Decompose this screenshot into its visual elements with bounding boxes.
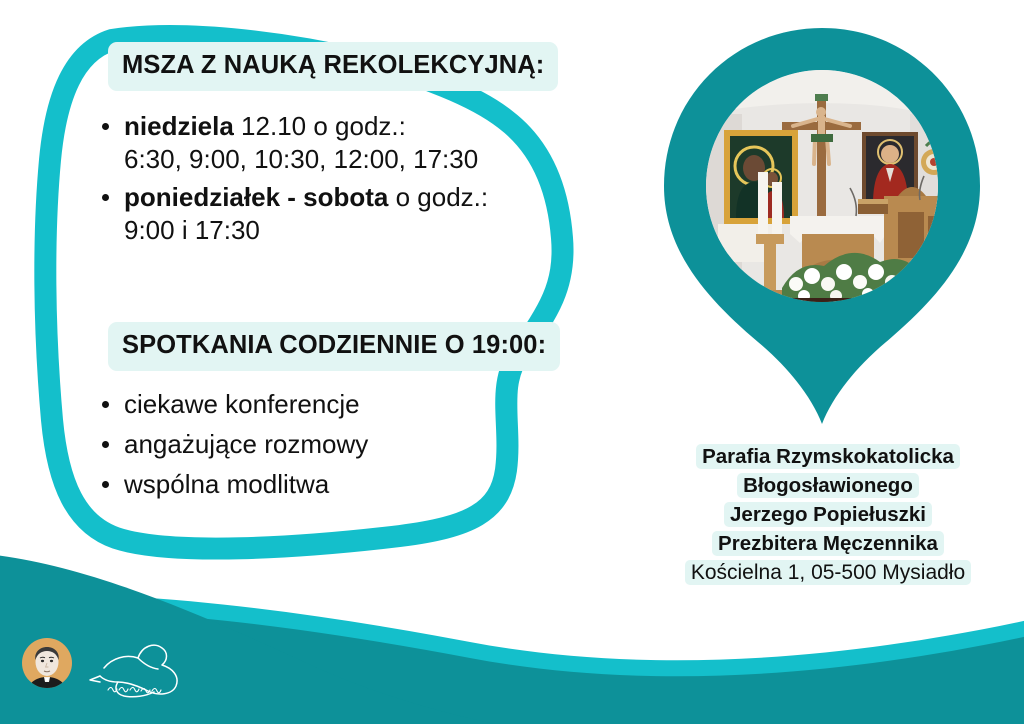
bullet-icon bbox=[102, 401, 109, 408]
meeting-item-label: wspólna modlitwa bbox=[102, 468, 542, 501]
poster-canvas: MSZA Z NAUKĄ REKOLEKCYJNĄ: niedziela 12.… bbox=[0, 0, 1024, 724]
mass-day-label: poniedziałek - sobota bbox=[124, 182, 388, 212]
church-photo-pin bbox=[662, 26, 982, 426]
parish-name-line: Jerzego Popiełuszki bbox=[660, 500, 996, 529]
map-pin-icon bbox=[662, 26, 982, 426]
list-item: wspólna modlitwa bbox=[102, 468, 542, 501]
parish-address: Kościelna 1, 05-500 Mysiadło bbox=[660, 558, 996, 588]
meetings-heading: SPOTKANIA CODZIENNIE O 19:00: bbox=[108, 322, 560, 371]
logo-group bbox=[18, 636, 198, 712]
list-item: ciekawe konferencje bbox=[102, 388, 542, 421]
meeting-item-label: angażujące rozmowy bbox=[102, 428, 542, 461]
parish-name-line: Parafia Rzymskokatolicka bbox=[660, 442, 996, 471]
mass-day-line: poniedziałek - sobota o godz.: bbox=[124, 181, 572, 214]
parish-name-line: Błogosławionego bbox=[660, 471, 996, 500]
meetings-heading-wrap: SPOTKANIA CODZIENNIE O 19:00: bbox=[108, 322, 560, 371]
dove-outline-logo bbox=[84, 638, 196, 705]
list-item: niedziela 12.10 o godz.: 6:30, 9:00, 10:… bbox=[102, 110, 572, 176]
mass-heading: MSZA Z NAUKĄ REKOLEKCYJNĄ: bbox=[108, 42, 558, 91]
mass-schedule-list: niedziela 12.10 o godz.: 6:30, 9:00, 10:… bbox=[102, 110, 572, 252]
bullet-icon bbox=[102, 481, 109, 488]
mass-times: 9:00 i 17:30 bbox=[124, 214, 572, 247]
mass-times: 6:30, 9:00, 10:30, 12:00, 17:30 bbox=[124, 143, 572, 176]
parish-name-line: Prezbitera Męczennika bbox=[660, 529, 996, 558]
mass-day-suffix: o godz.: bbox=[388, 182, 488, 212]
meeting-item-label: ciekawe konferencje bbox=[102, 388, 542, 421]
parish-identity: Parafia Rzymskokatolicka Błogosławionego… bbox=[660, 442, 996, 588]
bullet-icon bbox=[102, 441, 109, 448]
mass-day-label: niedziela bbox=[124, 111, 234, 141]
mass-day-suffix: 12.10 o godz.: bbox=[234, 111, 406, 141]
list-item: poniedziałek - sobota o godz.: 9:00 i 17… bbox=[102, 181, 572, 247]
blessed-jerzy-popieluszko-portrait-logo bbox=[18, 636, 76, 703]
list-item: angażujące rozmowy bbox=[102, 428, 542, 461]
bullet-icon bbox=[102, 123, 109, 130]
mass-day-line: niedziela 12.10 o godz.: bbox=[124, 110, 572, 143]
meetings-list: ciekawe konferencje angażujące rozmowy w… bbox=[102, 388, 542, 508]
schedule-content: MSZA Z NAUKĄ REKOLEKCYJNĄ: niedziela 12.… bbox=[0, 0, 640, 724]
bullet-icon bbox=[102, 194, 109, 201]
mass-heading-wrap: MSZA Z NAUKĄ REKOLEKCYJNĄ: bbox=[108, 42, 558, 91]
